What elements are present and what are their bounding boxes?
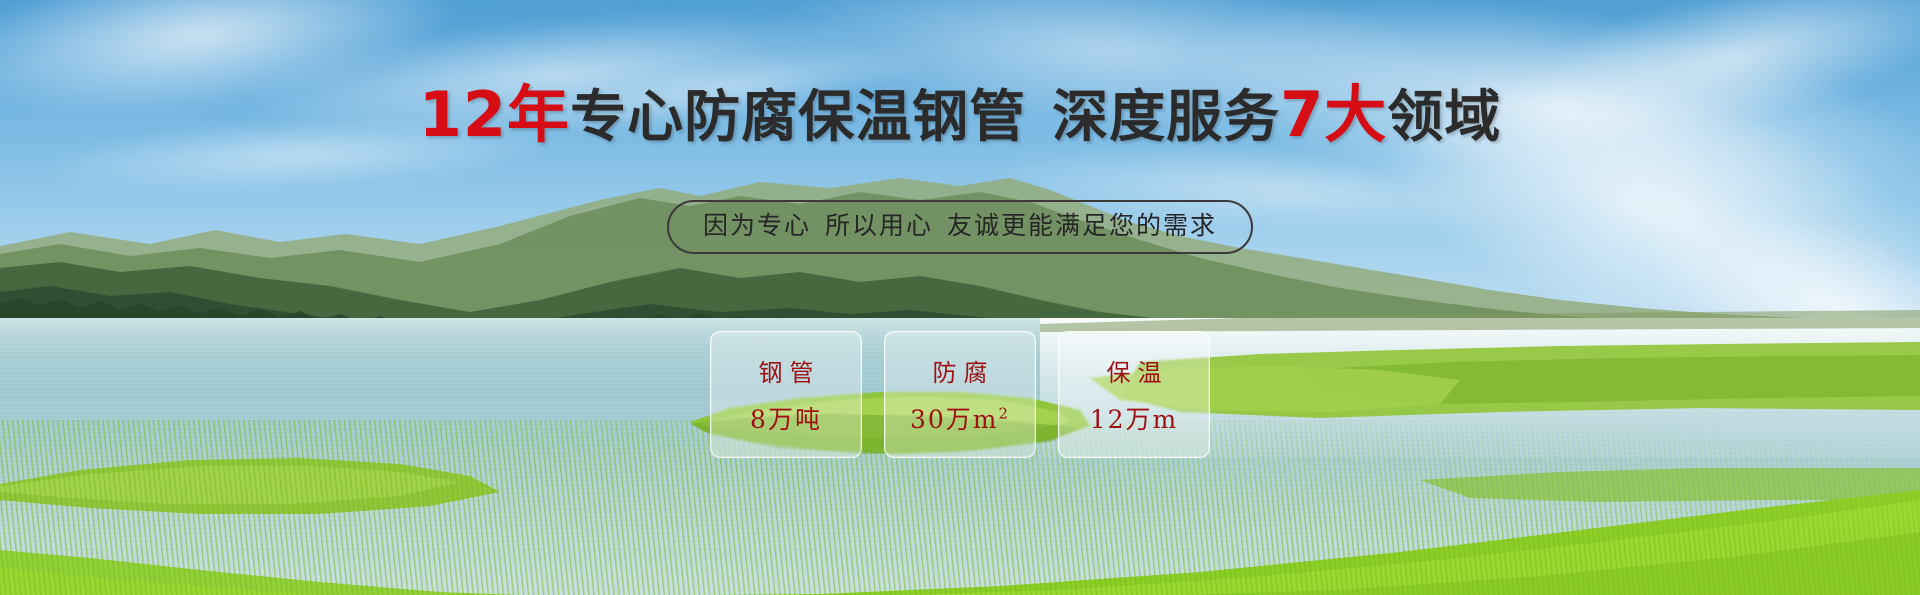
subtitle-part-1: 因为专心 [703, 211, 811, 240]
headline-segment-service: 深度服务 [1052, 85, 1280, 150]
stat-card-steel-pipe[interactable]: 钢管 8万吨 [710, 331, 862, 458]
stats-card-group: 钢管 8万吨 防腐 30万m2 保温 12万m [710, 331, 1210, 458]
stat-card-anticorrosion[interactable]: 防腐 30万m2 [884, 331, 1036, 458]
page-title: 12年专心防腐保温钢管深度服务7大领域 [0, 84, 1920, 149]
subtitle-part-3: 友诚更能满足您的需求 [947, 211, 1217, 240]
stat-card-title: 保温 [1100, 353, 1169, 388]
hero-banner: 12年专心防腐保温钢管深度服务7大领域 因为专心所以用心友诚更能满足您的需求 钢… [0, 0, 1920, 595]
stat-card-insulation[interactable]: 保温 12万m [1058, 331, 1210, 458]
stat-card-title: 钢管 [752, 353, 821, 388]
subtitle-pill: 因为专心所以用心友诚更能满足您的需求 [667, 200, 1253, 254]
stat-value-text: 30万m [910, 405, 999, 434]
headline-segment-fields: 领域 [1387, 85, 1501, 150]
stat-value-text: 8万吨 [750, 405, 822, 434]
stat-card-value: 8万吨 [750, 400, 822, 436]
stat-card-value: 30万m2 [910, 400, 1010, 436]
stat-value-superscript: 2 [998, 405, 1010, 423]
subtitle-part-2: 所以用心 [825, 211, 933, 240]
stat-card-value: 12万m [1090, 400, 1179, 436]
headline-segment-seven: 7大 [1280, 78, 1387, 151]
headline-segment-years: 12年 [419, 78, 570, 151]
stat-value-text: 12万m [1090, 405, 1179, 434]
stat-card-title: 防腐 [926, 353, 995, 388]
headline-segment-focus: 专心防腐保温钢管 [570, 85, 1026, 150]
